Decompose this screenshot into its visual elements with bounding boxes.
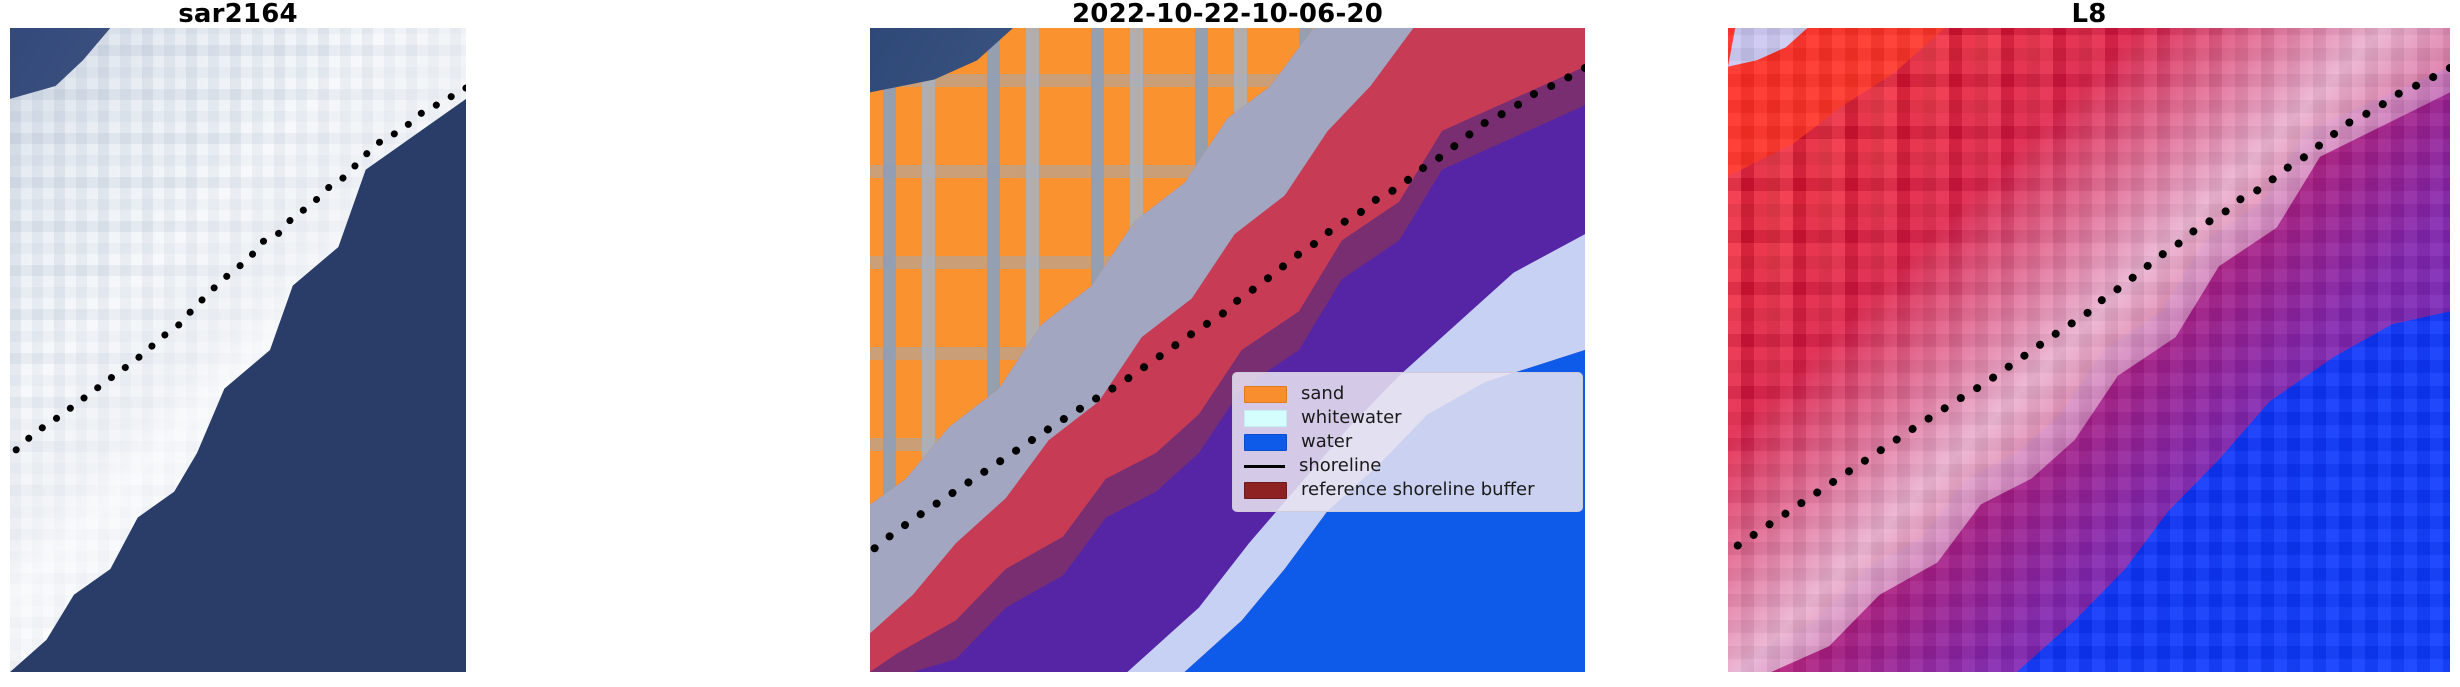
panel-image-3 xyxy=(1728,28,2450,672)
panel-title-1: sar2164 xyxy=(10,1,466,27)
legend-item-sand: sand xyxy=(1244,382,1569,406)
water-swatch-icon xyxy=(1244,434,1287,451)
panel-classification: 2022-10-22-10-06-20 xyxy=(870,28,1585,672)
legend-item-shoreline: shoreline xyxy=(1244,454,1569,478)
legend-item-whitewater: whitewater xyxy=(1244,406,1569,430)
legend-item-reference-buffer: reference shoreline buffer xyxy=(1244,478,1569,502)
panel-title-3: L8 xyxy=(1728,1,2450,27)
whitewater-swatch-icon xyxy=(1244,410,1287,427)
legend-label-water: water xyxy=(1301,433,1352,451)
legend-item-water: water xyxy=(1244,430,1569,454)
panel-title-2: 2022-10-22-10-06-20 xyxy=(870,1,1585,27)
legend-label-sand: sand xyxy=(1301,385,1344,403)
panel-image-1 xyxy=(10,28,466,672)
panel-l8: L8 xyxy=(1728,28,2450,672)
sand-swatch-icon xyxy=(1244,386,1287,403)
shoreline-line-icon xyxy=(1244,459,1285,474)
legend-label-shoreline: shoreline xyxy=(1299,457,1381,475)
panel-image-2 xyxy=(870,28,1585,672)
reference-buffer-swatch-icon xyxy=(1244,482,1287,499)
legend-label-reference-buffer: reference shoreline buffer xyxy=(1301,481,1534,499)
pixel-grid-layer xyxy=(1728,28,2450,672)
panel-sar2164: sar2164 xyxy=(10,28,466,672)
legend-label-whitewater: whitewater xyxy=(1301,409,1402,427)
legend-box: sand whitewater water shoreline referenc… xyxy=(1232,372,1583,512)
figure-canvas: sar2164 2022-10-22-10-06-20 xyxy=(0,0,2460,687)
